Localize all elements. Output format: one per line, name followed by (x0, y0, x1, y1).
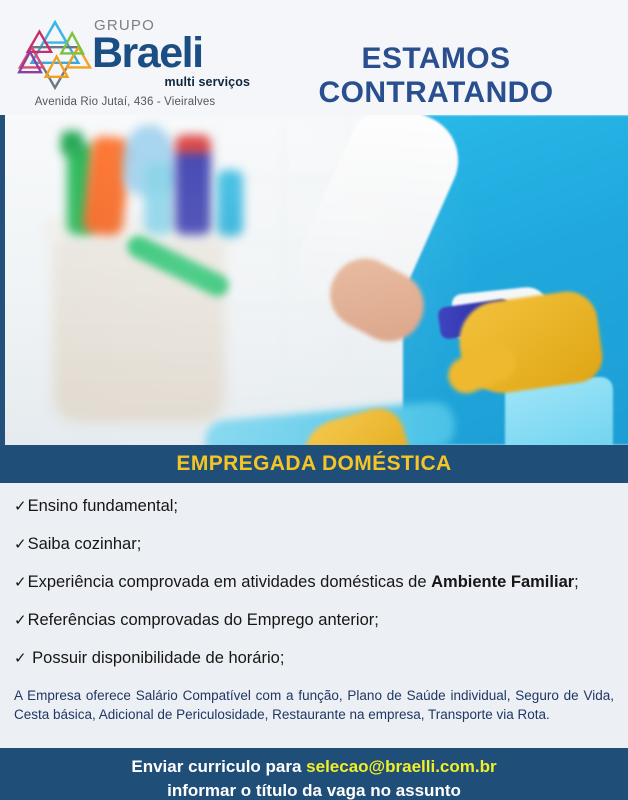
requirement-item: ✓Ensino fundamental; (14, 495, 614, 517)
requirement-text: Ensino fundamental; (28, 497, 178, 515)
benefits-paragraph: A Empresa oferece Salário Compatível com… (0, 684, 628, 736)
requirement-item: ✓Referências comprovadas do Emprego ante… (14, 609, 614, 631)
requirement-text: Saiba cozinhar; (28, 535, 142, 553)
poster-header: GRUPO Braeli multi serviços Avenida Rio … (0, 0, 628, 115)
footer-send-label: Enviar curriculo para (131, 757, 306, 776)
requirements-list: ✓Ensino fundamental; ✓Saiba cozinhar; ✓E… (0, 483, 628, 684)
hexagram-star-icon (16, 16, 94, 94)
requirement-item: ✓ Possuir disponibilidade de horário; (14, 647, 614, 669)
job-title: EMPREGADA DOMÉSTICA (176, 452, 451, 476)
brand-wordmark: GRUPO Braeli multi serviços (92, 18, 252, 89)
requirement-item: ✓Experiência comprovada em atividades do… (14, 571, 614, 593)
job-title-band: EMPREGADA DOMÉSTICA (0, 445, 628, 483)
footer-line-1: Enviar curriculo para selecao@braelli.co… (0, 755, 628, 779)
footer-line-2: informar o título da vaga no assunto (0, 779, 628, 800)
check-icon: ✓ (14, 612, 27, 629)
company-address: Avenida Rio Jutaí, 436 - Vieiralves (0, 96, 250, 108)
hero-photo (0, 115, 628, 445)
photo-light-overlay (5, 115, 628, 445)
requirement-item: ✓Saiba cozinhar; (14, 533, 614, 555)
hero-photo-illustration (5, 115, 628, 445)
requirement-text: Experiência comprovada em atividades dom… (28, 573, 432, 591)
requirement-emphasis: Ambiente Familiar (431, 573, 574, 591)
check-icon: ✓ (14, 650, 27, 667)
requirement-suffix: ; (574, 573, 579, 591)
job-posting-poster: GRUPO Braeli multi serviços Avenida Rio … (0, 0, 628, 800)
requirement-text: Possuir disponibilidade de horário; (28, 649, 285, 667)
contact-footer: Enviar curriculo para selecao@braelli.co… (0, 748, 628, 800)
brand-block: GRUPO Braeli multi serviços Avenida Rio … (0, 0, 250, 115)
page-title: ESTAMOS CONTRATANDO (250, 0, 628, 110)
check-icon: ✓ (14, 574, 27, 591)
check-icon: ✓ (14, 498, 27, 515)
brand-name: Braeli (92, 34, 252, 74)
contact-email[interactable]: selecao@braelli.com.br (306, 757, 496, 776)
requirement-text: Referências comprovadas do Emprego anter… (28, 611, 379, 629)
check-icon: ✓ (14, 536, 27, 553)
